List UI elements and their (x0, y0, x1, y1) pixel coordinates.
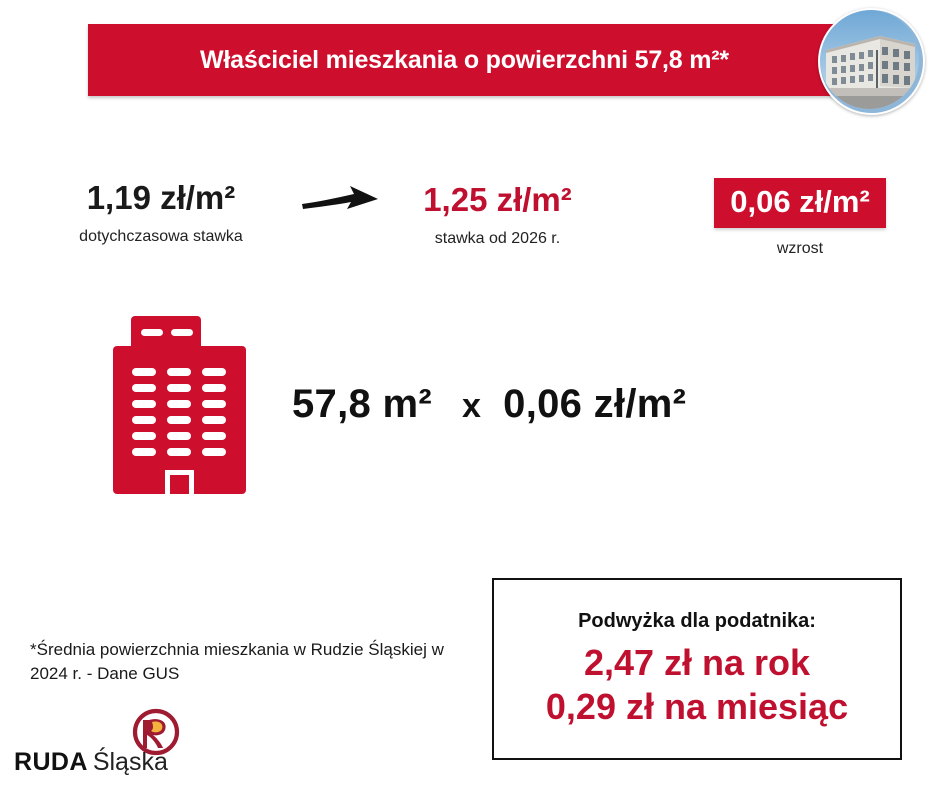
calc-operator: x (432, 387, 503, 425)
rate-current-value: 1,19 zł/m² (30, 180, 292, 216)
result-monthly: 0,29 zł na miesiąc (546, 685, 848, 729)
increase-badge: 0,06 zł/m² (714, 178, 886, 228)
apartment-building-icon (113, 316, 246, 494)
increase-label: wzrost (680, 240, 920, 258)
rate-2026-label: stawka od 2026 r. (380, 230, 615, 248)
calc-area: 57,8 m² (292, 382, 432, 426)
arrow-right-icon (300, 182, 382, 224)
calculation-expression: 57,8 m²x0,06 zł/m² (292, 382, 686, 427)
logo-name-primary: RUDA (14, 748, 88, 776)
rate-current-label: dotychczasowa stawka (30, 228, 292, 246)
logo-name-secondary: Śląska (93, 748, 168, 776)
rate-2026: 1,25 zł/m² stawka od 2026 r. (380, 182, 615, 248)
rate-current: 1,19 zł/m² dotychczasowa stawka (30, 180, 292, 246)
rate-increase: 0,06 zł/m² wzrost (680, 178, 920, 258)
header-banner: Właściciel mieszkania o powierzchni 57,8… (88, 24, 905, 96)
page-title: Właściciel mieszkania o powierzchni 57,8… (200, 46, 793, 75)
result-heading: Podwyżka dla podatnika: (578, 610, 816, 633)
apartment-building-photo (818, 8, 925, 115)
result-yearly: 2,47 zł na rok (584, 641, 810, 685)
rate-2026-value: 1,25 zł/m² (380, 182, 615, 218)
footnote: *Średnia powierzchnia mieszkania w Rudzi… (30, 638, 460, 686)
ruda-slaska-logo: RUDAŚląska (14, 708, 194, 776)
building-photo-graphic (820, 10, 919, 109)
logo-wordmark: RUDAŚląska (14, 748, 168, 777)
result-box: Podwyżka dla podatnika: 2,47 zł na rok 0… (492, 578, 902, 760)
calc-rate: 0,06 zł/m² (503, 382, 686, 426)
